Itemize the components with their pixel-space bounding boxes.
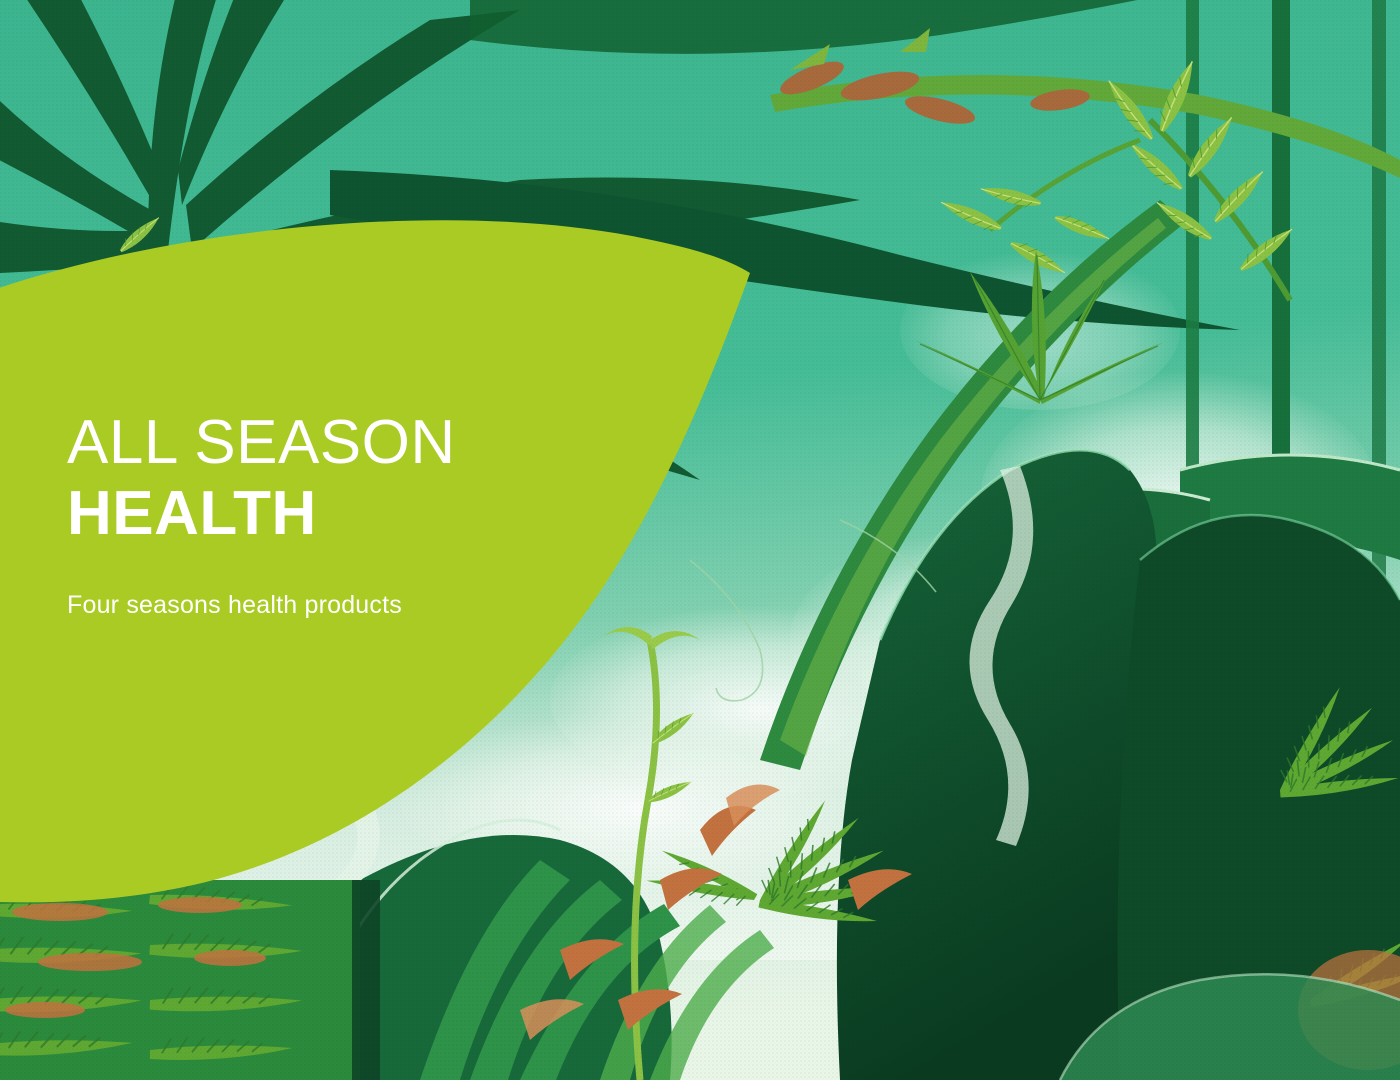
headline-block: ALL SEASON HEALTH Four seasons health pr… xyxy=(67,408,627,620)
headline-line-1: ALL SEASON xyxy=(67,408,627,479)
subtitle-text: Four seasons health products xyxy=(67,591,627,620)
headline-line-2: HEALTH xyxy=(67,479,627,550)
banner-root: ALL SEASON HEALTH Four seasons health pr… xyxy=(0,0,1400,1080)
